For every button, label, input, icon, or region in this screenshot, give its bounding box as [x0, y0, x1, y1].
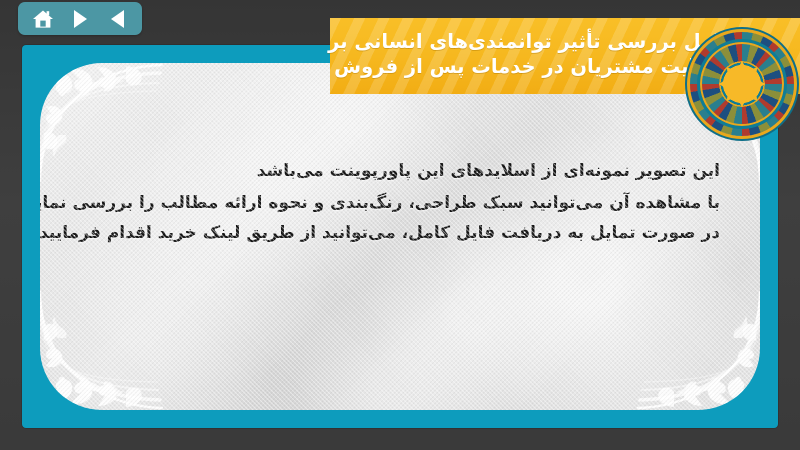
slide-stage: این تصویر نمونه‌ای از اسلایدهای این پاور… — [0, 0, 800, 450]
presentation-slide: این تصویر نمونه‌ای از اسلایدهای این پاور… — [22, 45, 778, 428]
triangle-right-icon — [74, 10, 87, 28]
triangle-left-icon — [111, 10, 124, 28]
back-button[interactable] — [104, 6, 130, 32]
slide-body-text: این تصویر نمونه‌ای از اسلایدهای این پاور… — [80, 159, 720, 251]
arabesque-corner-ornament-bottom-left — [40, 278, 190, 410]
body-line-1: این تصویر نمونه‌ای از اسلایدهای این پاور… — [80, 159, 720, 183]
arabesque-corner-ornament-bottom-right — [610, 278, 760, 410]
forward-button[interactable] — [67, 6, 93, 32]
navigation-bar — [18, 2, 142, 35]
home-icon — [32, 9, 54, 29]
body-line-3: در صورت تمایل به دریافت فایل کامل، می‌تو… — [80, 221, 720, 245]
body-line-2: با مشاهده آن می‌توانید سبک طراحی، رنگ‌بن… — [80, 191, 720, 215]
slide-canvas: این تصویر نمونه‌ای از اسلایدهای این پاور… — [40, 63, 760, 410]
home-button[interactable] — [30, 6, 56, 32]
